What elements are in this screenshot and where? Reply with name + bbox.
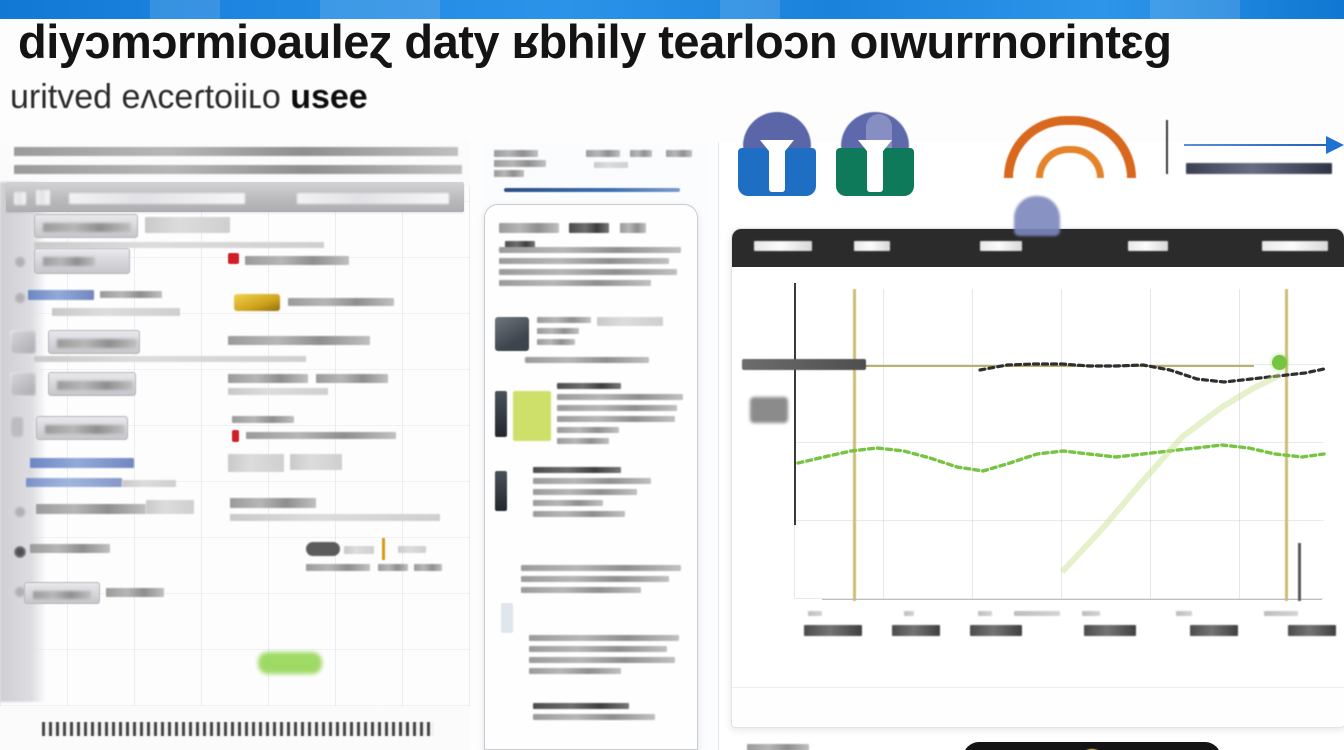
row-right-label [245,256,349,265]
block-2-line-0 [557,394,683,400]
row-chip[interactable] [24,582,100,604]
gauge-icon [10,372,36,396]
paragraph-line-3 [499,280,651,286]
row-chip-label [57,339,137,348]
paragraph-line-1 [499,258,669,264]
light-block [501,603,513,633]
left-panel [0,140,470,750]
row-underline [34,356,306,362]
x-subtick-0 [808,611,822,616]
intro-line-2 [14,165,462,174]
document-card [484,204,698,750]
block-3-lines [533,467,683,522]
paragraph-line-0 [499,247,681,253]
block-5-line-2 [529,657,675,663]
block-3-title [533,467,621,473]
row-chip[interactable] [48,330,140,354]
gold-tick [382,538,385,560]
block-2-lines [557,383,687,449]
x-subtick-3 [1014,611,1060,616]
row-chip[interactable] [48,372,136,396]
row-chip-label [33,591,91,599]
blue-arrow-head [1326,136,1344,154]
meta-item-5 [666,150,692,157]
block-3-line-3 [533,511,625,517]
meta-item-0 [494,150,538,157]
block-4-line-1 [521,576,669,582]
row-subtag [100,291,162,298]
left-panel-intro [14,146,464,182]
middle-panel-meta [490,146,704,202]
block-4-line-2 [521,587,641,593]
tab-3[interactable] [1128,241,1168,251]
block-3-line-2 [533,500,603,506]
row-right-label [232,416,294,423]
tab-0[interactable] [754,241,812,251]
footer-status-pill[interactable] [963,742,1221,750]
meta-item-4 [630,150,652,157]
vertical-divider [1166,120,1168,174]
block-5-line-0 [529,635,679,641]
row-chip-label [45,425,125,434]
row-ghost-block [145,217,230,233]
page-subtitle-prefix: uritved eʌceɾtoiiʟo [10,78,290,116]
series-ghost-green [1062,375,1280,572]
block-2-line-4 [557,438,609,444]
row-right-sub-b [378,564,408,571]
page-title: diyɔmɔrmioauleɀ daty ʁbhily tearloɔn oıw… [18,14,1344,69]
block-3-line-1 [533,489,637,495]
card-title-b [569,223,609,233]
bullet-icon [14,546,26,558]
blue-arrow-line [1184,144,1332,146]
row-tag [30,458,134,468]
x-tick-label-5 [1288,625,1336,636]
dome-stem [867,140,883,192]
arrow-caption-text [1186,163,1332,174]
block-1-caption [525,357,649,363]
row-chip[interactable] [34,248,130,274]
block-5-line-1 [529,646,667,652]
card-paragraph-block [499,247,685,291]
row-label [106,588,164,597]
page-subtitle: uritved eʌceɾtoiiʟo usee [10,78,368,117]
block-1-line-0 [537,317,591,323]
card-title-c [620,223,646,233]
status-icon [14,256,26,268]
block-2-title [557,383,621,389]
row-tag [28,290,94,300]
row-subtag-b [122,480,176,487]
header-bar-left-label [69,193,245,204]
block-4-line-0 [521,565,681,571]
block-5-line-3 [529,668,621,674]
row-ghost-block [228,454,284,472]
x-tick-label-0 [804,625,862,636]
list-item[interactable] [0,578,470,630]
row-right-label-b [316,374,388,383]
block-2-line-1 [557,405,677,411]
meta-sub [594,162,628,168]
row-subtag [26,478,122,487]
middle-panel [482,142,710,750]
striped-progress-bar [42,722,434,736]
green-highlight-blob [258,652,322,674]
dark-sidebar-block-2 [495,471,507,511]
x-tick-label-1 [892,625,940,636]
gold-clip-icon [234,294,280,311]
row-right-sub [228,388,328,395]
x-tick-label-4 [1190,625,1238,636]
x-subtick-1 [904,611,914,616]
progress-line [504,188,680,192]
chart-footer-zone [731,736,1344,750]
chip-icon [10,330,36,354]
header-bar-icon-b [36,190,50,205]
highlight-dot-marker[interactable] [1272,355,1287,370]
row-right-sub-a [306,564,370,571]
row-right-label [230,498,316,508]
chart-x-tick-labels [794,611,1324,643]
row-ghost-block [146,500,194,514]
block-6-title [533,703,629,709]
row-label [30,544,110,553]
row-chip[interactable] [34,214,138,238]
alert-swatch-red [232,430,239,442]
block-1-line-2 [537,339,575,345]
dome-stem [769,140,785,192]
severity-swatch-red [228,253,239,264]
paragraph-line-2 [499,269,677,275]
row-chip-label [43,223,131,232]
tab-2[interactable] [980,241,1022,251]
chip-thumbnail[interactable] [495,317,529,351]
card-title-a [499,223,559,233]
meta-item-2 [494,170,524,177]
chart-card [731,228,1344,728]
row-right-sub [246,432,396,439]
row-right-mini [398,546,426,553]
link-icon [14,506,26,518]
block-4-lines [521,565,685,598]
x-subtick-4 [1082,611,1100,616]
meta-item-3 [586,150,620,157]
block-2-line-2 [557,416,675,422]
row-ghost-block-b [290,454,342,470]
dark-sidebar-block [495,391,507,437]
meta-item-1 [494,160,546,167]
header-bar-right-label [297,193,449,204]
block-5-lines [529,635,685,679]
row-chip[interactable] [36,416,128,440]
x-tick-label-2 [970,625,1022,636]
series-lower-green [798,445,1324,471]
x-tick-label-3 [1084,625,1136,636]
tab-4[interactable] [1262,241,1328,251]
left-panel-header-bar[interactable] [6,182,464,212]
block-6-line-0 [533,714,655,720]
block-3-line-0 [533,478,651,484]
row-right-label [288,298,394,306]
list-item[interactable] [0,366,470,418]
row-right-sub-c [414,564,442,571]
chart-plot-area [732,267,1344,687]
footer-label-0 [747,744,809,750]
dome-logo-blue[interactable] [738,112,816,196]
row-chip-label [57,381,133,390]
x-subtick-2 [978,611,992,616]
spike-marker [1298,543,1301,601]
block-6-lines [533,703,683,725]
intro-line-1 [14,147,458,156]
block-1-line-1 [537,328,579,334]
header-bar-icon-a [14,192,26,205]
arrow-caption [1186,160,1332,178]
row-chip-label [43,257,95,266]
tab-1[interactable] [854,241,890,251]
info-icon [10,416,24,438]
mini-dome-logo [1014,196,1060,236]
tag-icon [14,292,26,304]
block-1-badge [597,317,663,326]
x-subtick-6 [1264,611,1298,616]
chart-card-footer [732,687,1344,728]
block-2-line-3 [557,427,619,433]
green-sample-block [513,391,551,441]
row-label [36,504,146,514]
row-right-label [228,336,370,345]
badge-label [344,546,374,554]
row-right-label-a [228,374,308,383]
row-secondary [52,308,180,316]
dome-logo-green[interactable] [836,112,914,196]
row-right-sub [230,514,440,521]
brand-icon-cluster [714,108,1344,216]
screenshot-root: diyɔmɔrmioauleɀ daty ʁbhily tearloɔn oıw… [0,0,1344,750]
x-subtick-5 [1176,611,1192,616]
page-subtitle-emphasis: usee [290,78,368,116]
status-badge [306,542,340,556]
